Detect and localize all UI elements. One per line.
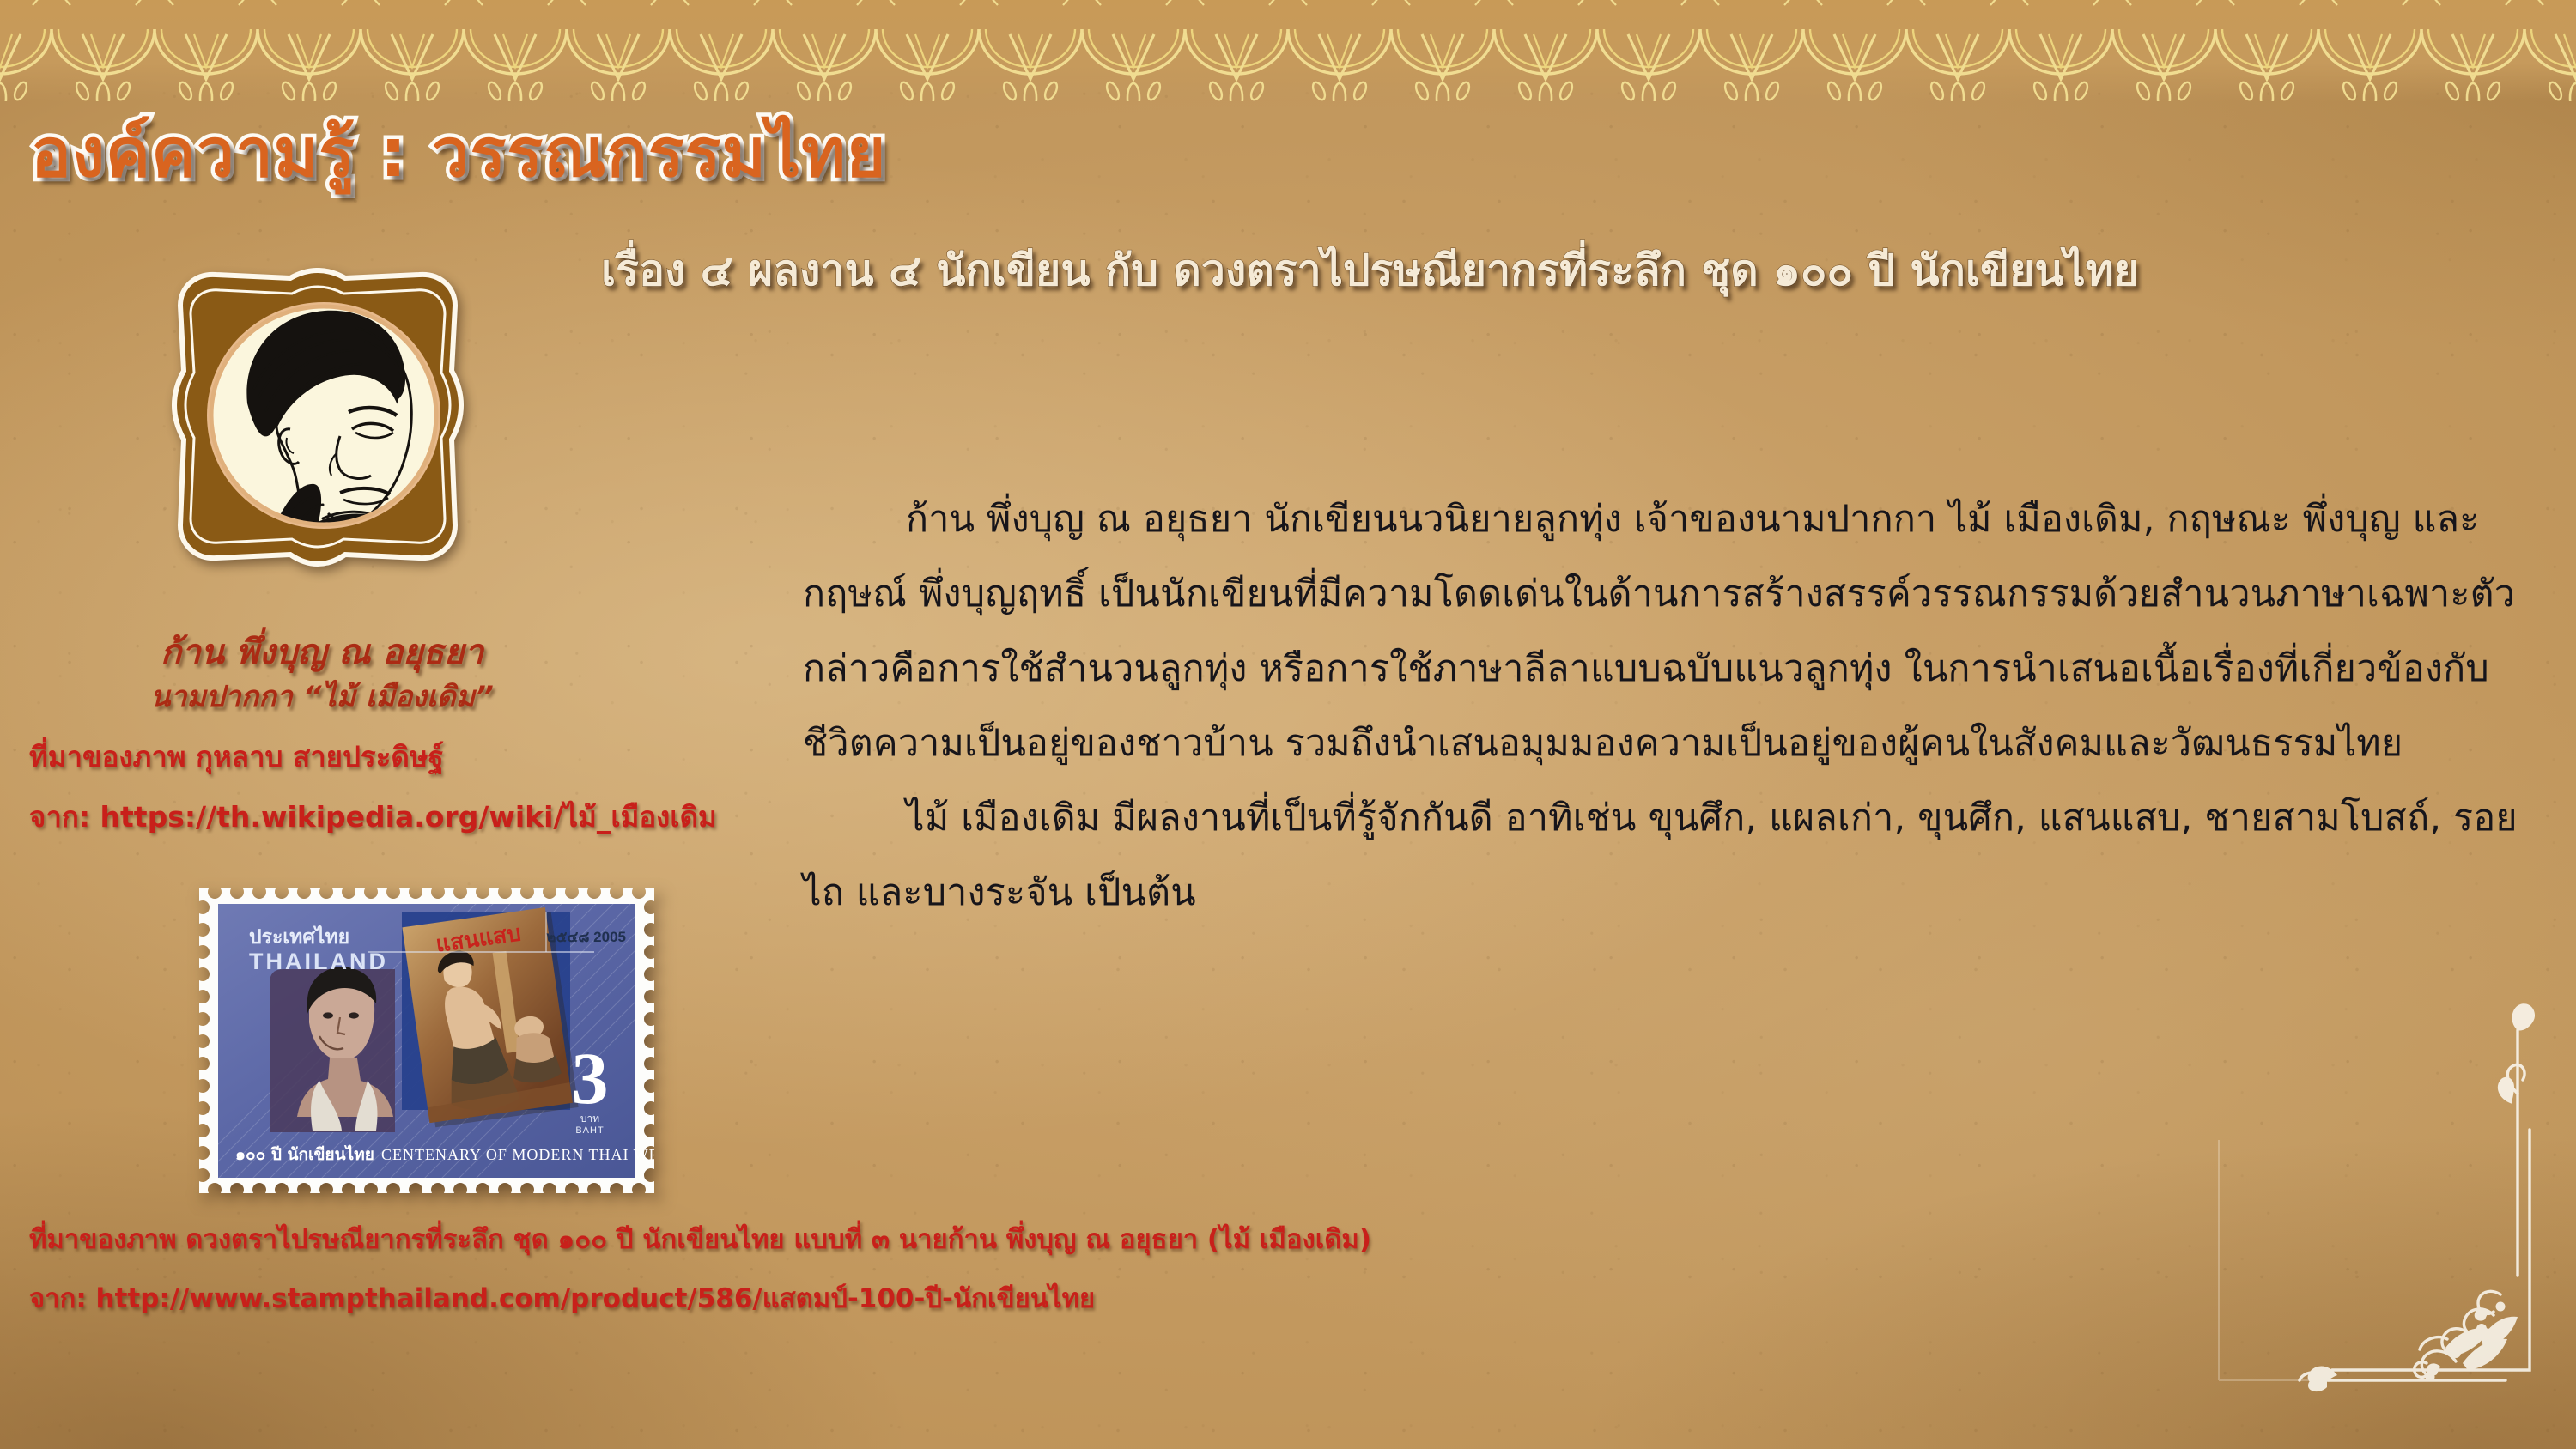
stamp-currency-latin: BAHT — [575, 1125, 604, 1136]
portrait-source-caption: ที่มาของภาพ กุหลาบ สายประดิษฐ์ — [29, 734, 444, 779]
corner-flourish-ornament — [2198, 992, 2567, 1439]
top-ornamental-border — [0, 0, 2576, 101]
slide-canvas: องค์ความรู้ : วรรณกรรมไทย เรื่อง ๔ ผลงาน… — [0, 0, 2576, 1449]
portrait-source-url[interactable]: จาก: https://th.wikipedia.org/wiki/ไม้_เ… — [29, 794, 717, 840]
writer-name: ก้าน พึ่งบุญ ณ อยุธยา — [64, 624, 580, 679]
stamp-denomination: 3 — [572, 1037, 609, 1119]
stamp-currency-thai: บาท — [580, 1113, 599, 1125]
page-title: องค์ความรู้ : วรรณกรรมไทย — [31, 120, 1250, 187]
stamp-source-caption: ที่มาของภาพ ดวงตราไปรษณียากรที่ระลึก ชุด… — [29, 1217, 1371, 1260]
stamp-year: ๒๕๔๘ 2005 — [546, 929, 626, 945]
postage-stamp-image: แสนแสบ — [199, 888, 654, 1193]
body-paragraph-1: ก้าน พึ่งบุญ ณ อยุธยา นักเขียนนวนิยายลูก… — [803, 482, 2550, 781]
body-text: ก้าน พึ่งบุญ ณ อยุธยา นักเขียนนวนิยายลูก… — [803, 482, 2550, 931]
stamp-caption-thai: ๑๐๐ ปี นักเขียนไทย — [235, 1144, 374, 1164]
stamp-country-latin: THAILAND — [249, 949, 388, 974]
title-block: องค์ความรู้ : วรรณกรรมไทย — [31, 120, 1250, 215]
page-subtitle: เรื่อง ๔ ผลงาน ๔ นักเขียน กับ ดวงตราไปรษ… — [601, 247, 2559, 294]
portrait-frame — [146, 268, 532, 611]
pen-name: นามปากกา “ไม้ เมืองเดิม” — [64, 673, 580, 719]
body-paragraph-2: ไม้ เมืองเดิม มีผลงานที่เป็นที่รู้จักกัน… — [803, 781, 2550, 931]
stamp-source-url[interactable]: จาก: http://www.stampthailand.com/produc… — [29, 1276, 1095, 1319]
stamp-caption-latin: CENTENARY OF MODERN THAI WRITERS — [381, 1146, 654, 1163]
stamp-country-thai: ประเทศไทย — [249, 925, 349, 949]
